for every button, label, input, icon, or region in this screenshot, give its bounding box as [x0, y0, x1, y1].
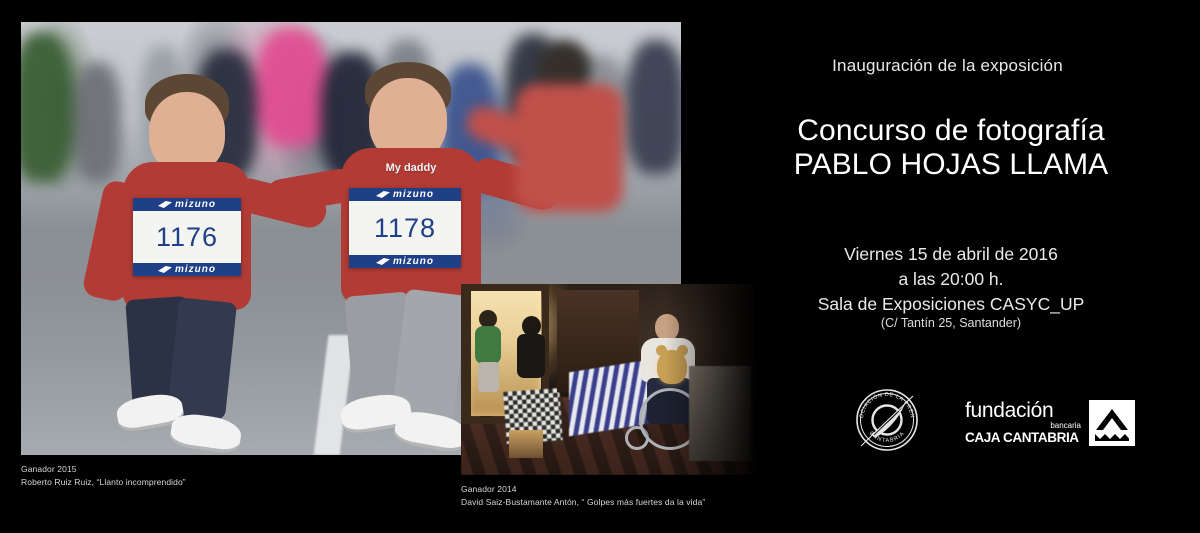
bib-brand-top: mizuno [349, 188, 461, 201]
wooden-stool [509, 430, 543, 458]
bib-number-right: 1178 [349, 214, 461, 243]
caption-line-1: Ganador 2015 [21, 463, 186, 476]
fundacion-caja-cantabria-logo: fundación bancaria CAJA CANTABRIA [965, 400, 1135, 446]
race-bib-right: mizuno 1178 mizuno [349, 188, 461, 268]
bib-brand-top: mizuno [133, 198, 241, 211]
caja-cantabria-line: CAJA CANTABRIA [965, 431, 1083, 446]
photo-ganador-2014 [461, 284, 755, 475]
mountain-mark-icon [1089, 400, 1135, 446]
caption-line-2: David Saiz-Bustamante Antón, “ Golpes má… [461, 496, 705, 509]
caption-ganador-2015: Ganador 2015 Roberto Ruiz Ruiz, “Llanto … [21, 463, 186, 489]
figure-green-shirt [475, 310, 501, 390]
title-line-1: Concurso de fotografía [760, 114, 1142, 148]
bib-brand-text: mizuno [393, 256, 434, 267]
bib-brand-bottom: mizuno [133, 263, 241, 276]
caption-line-1: Ganador 2014 [461, 483, 705, 496]
figure-dark [517, 316, 545, 398]
mizuno-swoosh-icon [158, 266, 172, 273]
event-kicker: Inauguración de la exposición [760, 56, 1135, 76]
bib-brand-bottom: mizuno [349, 255, 461, 268]
bib-brand-text: mizuno [393, 189, 434, 200]
event-details: Viernes 15 de abril de 2016 a las 20:00 … [760, 242, 1142, 317]
logo-row: ASOCIACIÓN DE LA PRENSA CANTABRIA fundac… [760, 382, 1200, 462]
shadow-vignette [665, 284, 755, 475]
mizuno-swoosh-icon [158, 201, 172, 208]
caption-ganador-2014: Ganador 2014 David Saiz-Bustamante Antón… [461, 483, 705, 509]
bib-brand-text: mizuno [175, 264, 216, 275]
bib-brand-text: mizuno [175, 199, 216, 210]
event-time: a las 20:00 h. [760, 267, 1142, 292]
event-title: Concurso de fotografía PABLO HOJAS LLAMA [760, 114, 1142, 181]
fundacion-wordmark: fundación bancaria CAJA CANTABRIA [965, 400, 1083, 445]
text-panel: Inauguración de la exposición Concurso d… [760, 0, 1200, 533]
mizuno-swoosh-icon [376, 258, 390, 265]
event-address: (C/ Tantín 25, Santander) [760, 316, 1142, 330]
race-bib-left: mizuno 1176 mizuno [133, 198, 241, 276]
event-venue: Sala de Exposiciones CASYC_UP [760, 292, 1142, 317]
child-left: mizuno 1176 mizuno [99, 74, 319, 455]
asociacion-prensa-cantabria-logo: ASOCIACIÓN DE LA PRENSA CANTABRIA [855, 388, 919, 452]
bib-number-left: 1176 [133, 223, 241, 252]
poster-canvas: mizuno 1176 mizuno My daddy [0, 0, 1200, 533]
shirt-slogan: My daddy [337, 162, 485, 174]
event-date: Viernes 15 de abril de 2016 [760, 242, 1142, 267]
title-line-2: PABLO HOJAS LLAMA [760, 148, 1142, 182]
mizuno-swoosh-icon [376, 191, 390, 198]
blurred-adult [489, 40, 681, 270]
fundacion-line: fundación [965, 400, 1083, 421]
caption-line-2: Roberto Ruiz Ruiz, “Llanto incomprendido… [21, 476, 186, 489]
